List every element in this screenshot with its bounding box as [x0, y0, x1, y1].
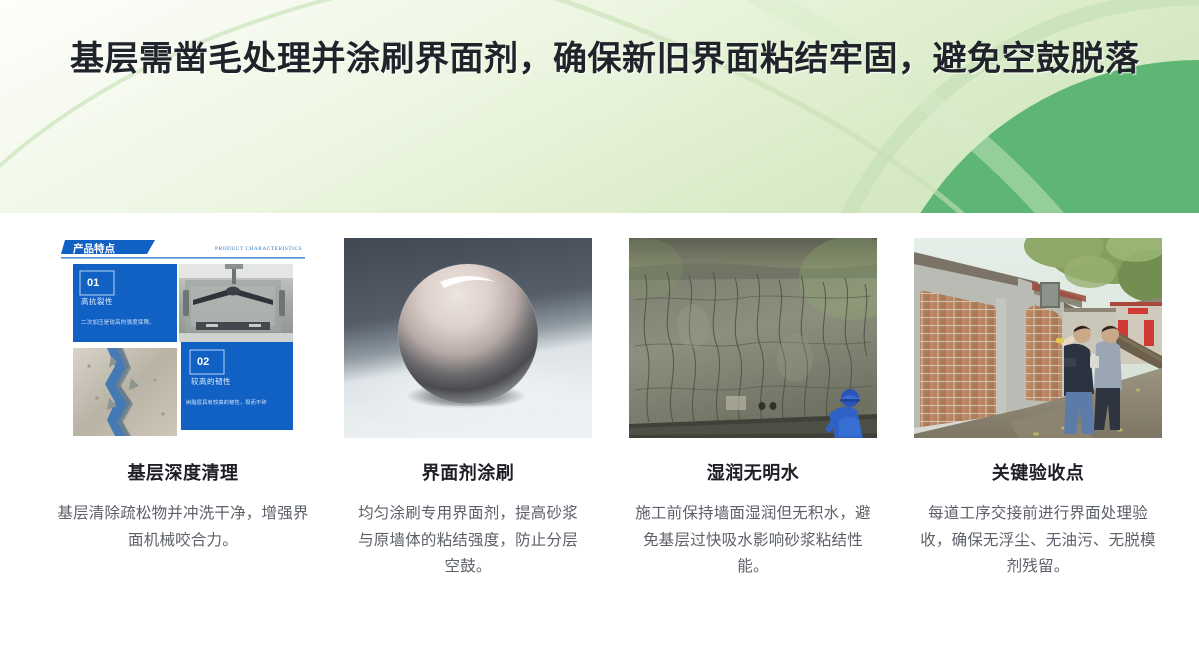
svg-text:树脂层具有较高的韧性，裂而不碎: 树脂层具有较高的韧性，裂而不碎 — [186, 398, 267, 406]
card-title: 界面剂涂刷 — [422, 459, 515, 485]
card-body: 每道工序交接前进行界面处理验收，确保无浮尘、无油污、无脱模剂残留。 — [913, 501, 1163, 581]
card-title: 关键验收点 — [992, 459, 1085, 485]
card-image-glossy-sphere — [344, 238, 592, 438]
slide: 基层需凿毛处理并涂刷界面剂，确保新旧界面粘结牢固，避免空鼓脱落 — [0, 0, 1199, 672]
feature-card: 湿润无明水 施工前保持墙面湿润但无积水，避免基层过快吸水影响砂浆粘结性能。 — [618, 213, 888, 672]
svg-text:高抗裂性: 高抗裂性 — [81, 297, 113, 306]
svg-text:02: 02 — [197, 356, 209, 368]
badge-label-cn: 产品特点 — [73, 242, 115, 255]
card-image-product-characteristics: 产品特点 PRODUCT CHARACTERISTICS 01 高抗裂性 二次加… — [59, 238, 307, 438]
card-title: 基层深度清理 — [128, 459, 239, 485]
card-image-brick-wall-inspection — [914, 238, 1162, 438]
feature-card: 产品特点 PRODUCT CHARACTERISTICS 01 高抗裂性 二次加… — [48, 213, 318, 672]
card-body: 施工前保持墙面湿润但无积水，避免基层过快吸水影响砂浆粘结性能。 — [631, 501, 875, 581]
page-title: 基层需凿毛处理并涂刷界面剂，确保新旧界面粘结牢固，避免空鼓脱落 — [70, 36, 1160, 83]
header-decoration — [0, 0, 1199, 213]
svg-text:较高的韧性: 较高的韧性 — [191, 377, 231, 386]
card-body: 均匀涂刷专用界面剂，提高砂浆与原墙体的粘结强度，防止分层空鼓。 — [352, 501, 584, 581]
feature-card-row: 产品特点 PRODUCT CHARACTERISTICS 01 高抗裂性 二次加… — [0, 213, 1199, 672]
feature-card: 界面剂涂刷 均匀涂刷专用界面剂，提高砂浆与原墙体的粘结强度，防止分层空鼓。 — [333, 213, 603, 672]
card-body: 基层清除疏松物并冲洗干净，增强界面机械咬合力。 — [52, 501, 314, 554]
card-image-plastered-wall — [629, 238, 877, 438]
svg-text:二次加压是较高的强度保障。: 二次加压是较高的强度保障。 — [81, 318, 155, 326]
badge-label-en: PRODUCT CHARACTERISTICS — [215, 246, 302, 252]
svg-text:01: 01 — [87, 277, 99, 289]
feature-card: 关键验收点 每道工序交接前进行界面处理验收，确保无浮尘、无油污、无脱模剂残留。 — [903, 213, 1173, 672]
header-banner: 基层需凿毛处理并涂刷界面剂，确保新旧界面粘结牢固，避免空鼓脱落 — [0, 0, 1199, 213]
card-title: 湿润无明水 — [707, 459, 800, 485]
